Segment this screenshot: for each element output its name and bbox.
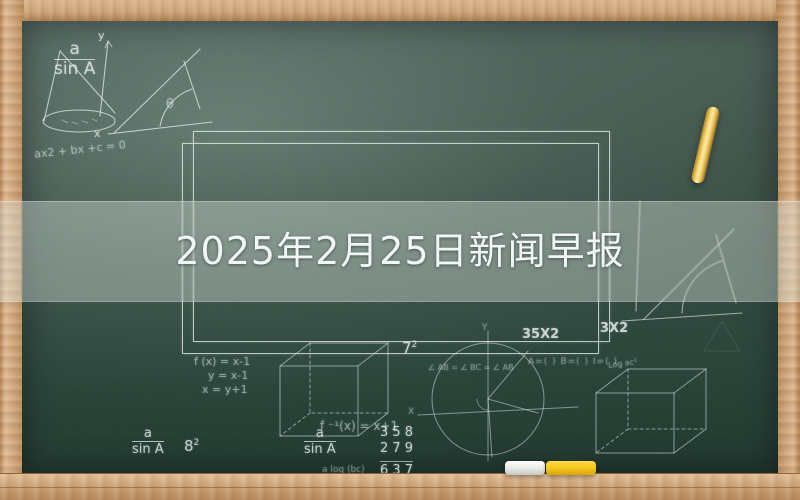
chalk-ledge (0, 473, 800, 500)
chalk-sum-row-1: 3 5 8 (380, 425, 413, 440)
chalk-axis-label-x-topleft: x (94, 127, 101, 140)
white-chalk-piece[interactable] (505, 461, 545, 475)
chalk-function-line-3: x = y+1 (202, 383, 247, 396)
wood-frame-top (0, 0, 800, 22)
chalk-triangle-congruence-note: ∠ AB = ∠ BC = ∠ AB (428, 363, 514, 372)
chalk-sum-row-2: 2 7 9 (380, 441, 413, 456)
chalk-power-eight: 82 (184, 437, 199, 455)
page-title: 2025年2月25日新闻早报 (0, 222, 800, 280)
chalk-axis-label-x-bottomright: X (408, 407, 414, 417)
chalk-angle-theta-topleft: θ (166, 97, 174, 112)
chalk-matrix-note: A=( ) B=( ) I=( ) (528, 357, 618, 367)
chalk-fraction-a-over-sinA-left: a sin A (132, 427, 164, 457)
chalk-axis-label-y-topleft: y (98, 29, 105, 42)
chalk-function-line-1: f (x) = x-1 (194, 355, 250, 368)
yellow-chalk-piece[interactable] (546, 461, 596, 475)
chalk-fraction-a-over-sinA-topleft: a sin A (54, 41, 95, 79)
blackboard-title-card: a sin A y x θ ax2 + bx +c = 0 f (x) = x-… (0, 0, 800, 500)
chalk-function-line-2: y = x-1 (208, 369, 248, 382)
